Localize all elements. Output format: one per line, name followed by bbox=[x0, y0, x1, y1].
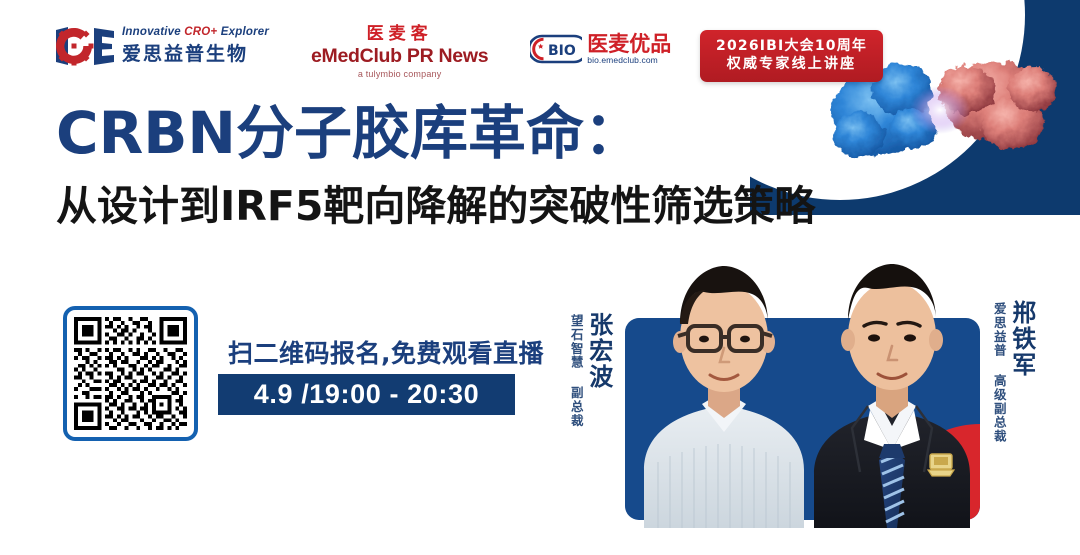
bio-website-url: bio.emedclub.com bbox=[587, 55, 671, 65]
anniversary-badge: 2026IBI大会10周年 权威专家线上讲座 bbox=[700, 30, 883, 82]
speaker-1-label: 张宏波 望石智慧 副总裁 bbox=[569, 312, 611, 428]
registration-cta-text: 扫二维码报名,免费观看直播 bbox=[228, 334, 544, 370]
anniversary-badge-line2: 权威专家线上讲座 bbox=[716, 55, 867, 74]
speaker-2-title: 爱思益普 高级副总裁 bbox=[992, 302, 1006, 444]
bio-logo-text: 医麦优品 bio.emedclub.com bbox=[587, 33, 671, 65]
bio-chinese-name: 医麦优品 bbox=[587, 33, 671, 55]
speaker-1-name: 张宏波 bbox=[587, 312, 611, 390]
speaker-2-name: 郱铁军 bbox=[1010, 300, 1034, 378]
bio-emedclub-logo[interactable]: BIO 医麦优品 bio.emedclub.com bbox=[530, 24, 671, 65]
speaker-2-label: 郱铁军 爱思益普 高级副总裁 bbox=[992, 300, 1034, 444]
emedclub-chinese: 医麦客 bbox=[311, 25, 488, 44]
page-subtitle: 从设计到IRF5靶向降解的突破性筛选策略 bbox=[56, 186, 815, 227]
qr-code-image bbox=[74, 317, 187, 430]
ice-mark-icon bbox=[52, 24, 116, 68]
ice-logo[interactable]: Innovative CRO+ Explorer 爱思益普生物 bbox=[52, 24, 269, 68]
anniversary-badge-line1: 2026IBI大会10周年 bbox=[716, 37, 867, 55]
svg-text:BIO: BIO bbox=[548, 43, 576, 59]
speaker-photo-panel bbox=[625, 318, 980, 520]
emedclub-english: eMedClub PR News bbox=[311, 44, 488, 68]
emedclub-subtitle: a tulymbio company bbox=[311, 68, 488, 81]
webinar-promo-banner: Innovative CRO+ Explorer 爱思益普生物 医麦客 eMed… bbox=[0, 0, 1080, 555]
event-datetime-bar: 4.9 /19:00 - 20:30 bbox=[218, 374, 515, 415]
ice-chinese-name: 爱思益普生物 bbox=[122, 39, 269, 66]
speaker-1-title: 望石智慧 副总裁 bbox=[569, 314, 583, 428]
ice-logo-text: Innovative CRO+ Explorer 爱思益普生物 bbox=[122, 26, 269, 66]
panel-red-accent bbox=[884, 424, 980, 520]
emedclub-logo[interactable]: 医麦客 eMedClub PR News a tulymbio company bbox=[311, 24, 488, 81]
event-datetime: 4.9 /19:00 - 20:30 bbox=[254, 379, 479, 410]
page-title: CRBN分子胶库革命： bbox=[56, 104, 642, 162]
bio-badge-icon: BIO bbox=[530, 34, 582, 64]
ice-tagline: Innovative CRO+ Explorer bbox=[122, 26, 269, 38]
partner-logo-row: Innovative CRO+ Explorer 爱思益普生物 医麦客 eMed… bbox=[52, 24, 671, 81]
qr-code[interactable] bbox=[63, 306, 198, 441]
